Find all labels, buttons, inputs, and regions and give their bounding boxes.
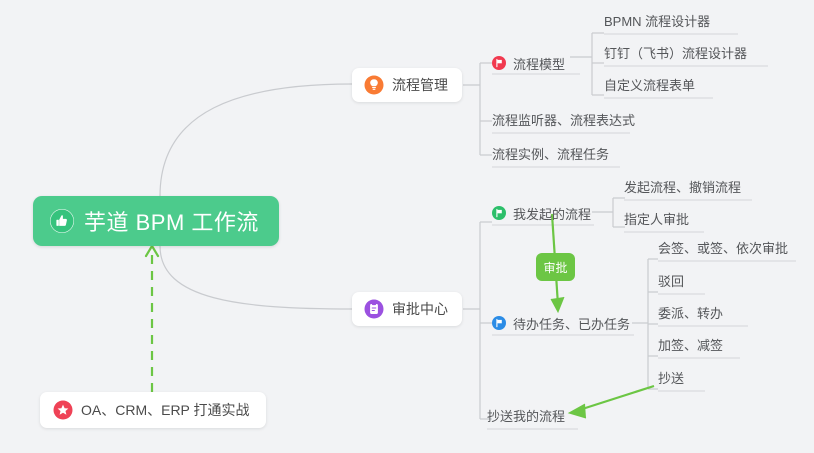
leaf-node-bpmn-designer[interactable]: BPMN 流程设计器 (604, 12, 710, 32)
topic-label: 待办任务、已办任务 (513, 314, 630, 333)
leaf-node-reject[interactable]: 驳回 (658, 272, 684, 292)
root-label: 芋道 BPM 工作流 (84, 205, 259, 237)
callout-label: OA、CRM、ERP 打通实战 (81, 400, 250, 420)
flag-icon (492, 316, 506, 330)
star-icon (53, 400, 73, 420)
document-icon (364, 299, 384, 319)
topic-label: 我发起的流程 (513, 204, 591, 223)
arrow-label-approval: 审批 (536, 253, 575, 281)
topic-node-my-initiated[interactable]: 我发起的流程 (492, 202, 591, 224)
leaf-node-assignee-approval[interactable]: 指定人审批 (624, 210, 689, 230)
lightbulb-icon (364, 75, 384, 95)
topic-node-todo-done-tasks[interactable]: 待办任务、已办任务 (492, 312, 630, 334)
flag-icon (492, 206, 506, 220)
leaf-node-countersign[interactable]: 会签、或签、依次审批 (658, 239, 788, 259)
green-arrow-cc-to-ccmine (569, 386, 654, 418)
topic-node-process-instance[interactable]: 流程实例、流程任务 (492, 145, 609, 165)
branch-label: 流程管理 (392, 75, 448, 95)
topic-node-cc-to-me[interactable]: 抄送我的流程 (487, 407, 565, 427)
mindmap-canvas: 芋道 BPM 工作流 流程管理 流程模型 BPMN 流程设计器 钉钉（飞书）流程… (0, 0, 814, 453)
branch-label: 审批中心 (392, 299, 448, 319)
thumbs-up-icon (50, 209, 74, 233)
dashed-arrow-callout-to-root (146, 246, 158, 392)
topic-node-process-model[interactable]: 流程模型 (492, 52, 565, 74)
wire-root-to-approval-center (160, 246, 352, 309)
branch-node-approval-center[interactable]: 审批中心 (352, 292, 462, 326)
topic-label: 流程模型 (513, 54, 565, 73)
leaf-node-dingtalk-designer[interactable]: 钉钉（飞书）流程设计器 (604, 44, 747, 64)
leaf-node-add-remove-sign[interactable]: 加签、减签 (658, 336, 723, 356)
branch-node-process-management[interactable]: 流程管理 (352, 68, 462, 102)
leaf-node-custom-form[interactable]: 自定义流程表单 (604, 76, 695, 96)
leaf-node-delegate-transfer[interactable]: 委派、转办 (658, 304, 723, 324)
wire-root-to-process-management (160, 84, 352, 196)
root-node[interactable]: 芋道 BPM 工作流 (33, 196, 279, 246)
leaf-node-start-cancel-process[interactable]: 发起流程、撤销流程 (624, 178, 741, 198)
topic-node-process-listener[interactable]: 流程监听器、流程表达式 (492, 111, 635, 131)
leaf-node-cc[interactable]: 抄送 (658, 369, 684, 389)
callout-node-integration[interactable]: OA、CRM、ERP 打通实战 (40, 392, 266, 428)
arrow-label-text: 审批 (543, 259, 567, 276)
flag-icon (492, 56, 506, 70)
